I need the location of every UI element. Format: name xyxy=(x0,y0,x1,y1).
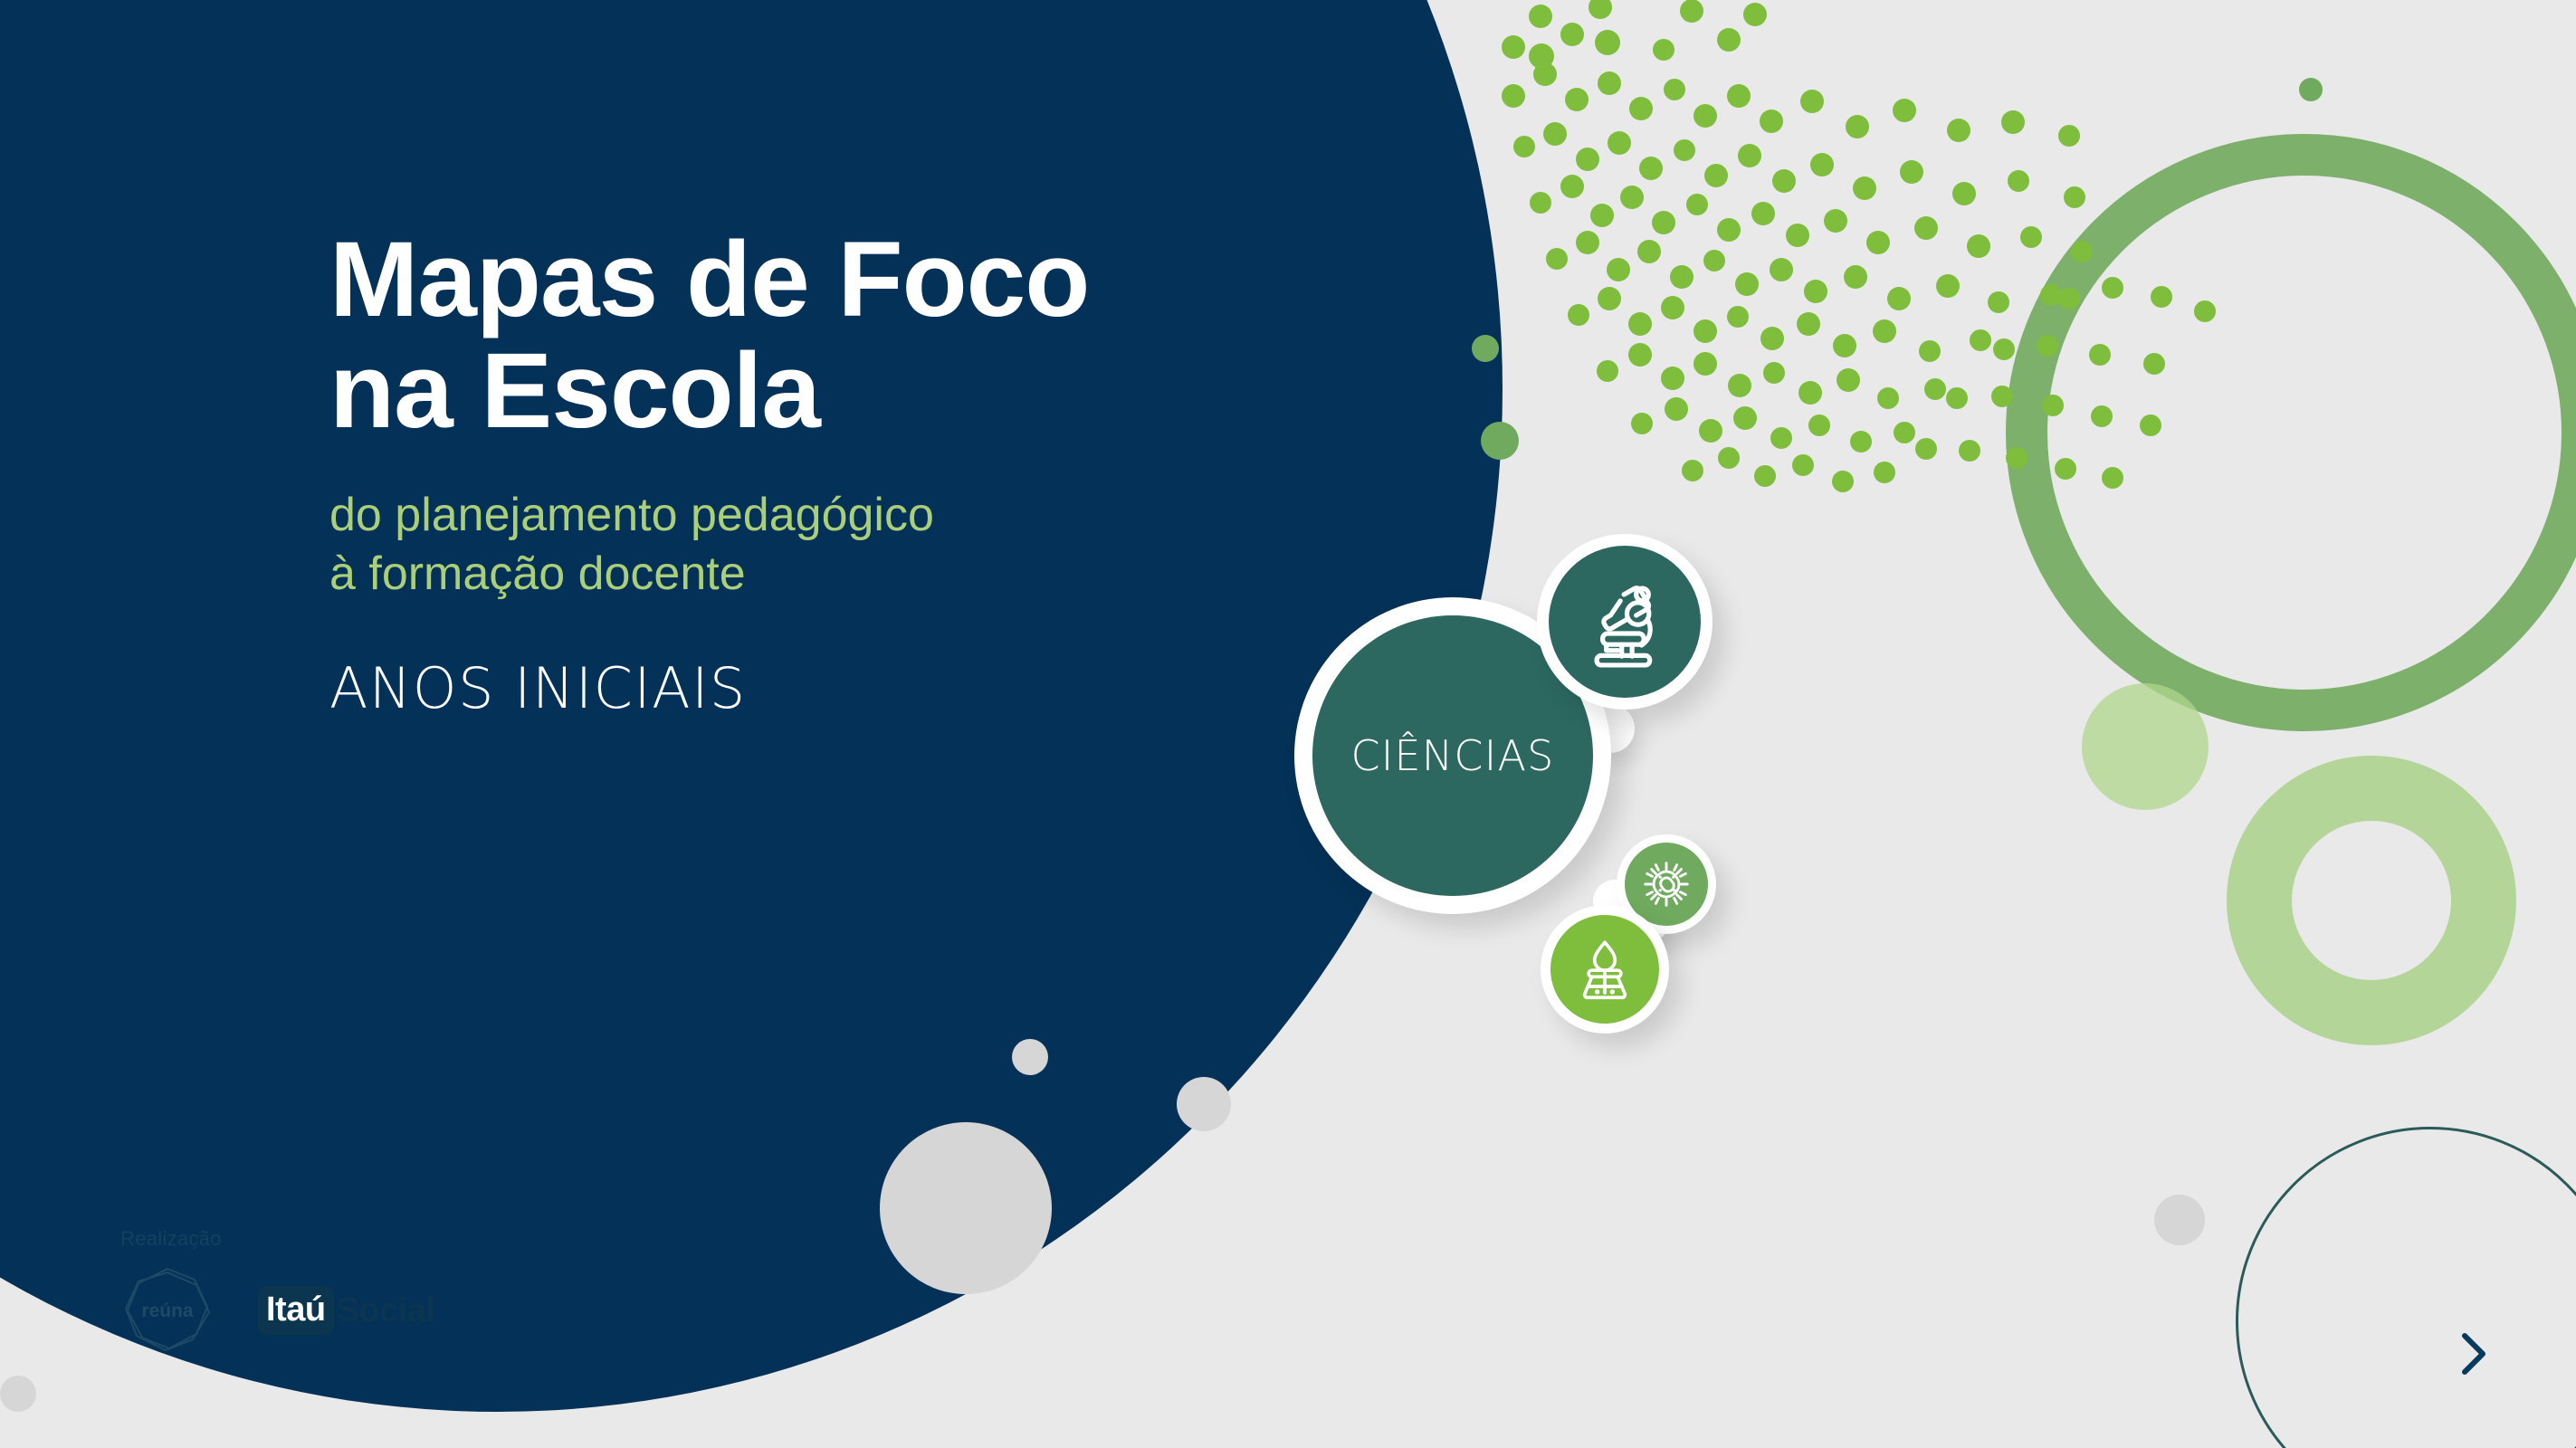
title-line-1: Mapas de Foco xyxy=(329,224,1343,336)
next-slide-button[interactable] xyxy=(2448,1329,2499,1379)
logo-row: reúna Itaú Social xyxy=(120,1263,435,1357)
decorative-grey-circle xyxy=(0,1376,36,1412)
page-subtitle: do planejamento pedagógico à formação do… xyxy=(329,486,1343,603)
icon-bubble-burner[interactable] xyxy=(1541,905,1669,1034)
itau-social-word: Social xyxy=(337,1293,435,1328)
decorative-teal-outline-circle xyxy=(2236,1127,2576,1448)
slide-root: Mapas de Foco na Escola do planejamento … xyxy=(0,0,2576,1448)
subtitle-line-2: à formação docente xyxy=(329,545,1343,603)
itau-box-text: Itaú xyxy=(258,1286,334,1335)
reuna-logo-mark: reúna xyxy=(120,1263,215,1357)
audience-label: ANOS INICIAIS xyxy=(329,655,1343,721)
footer-credits: Realização reúna Itaú Social xyxy=(120,1227,435,1357)
title-block: Mapas de Foco na Escola do planejamento … xyxy=(329,224,1343,721)
decorative-green-dot xyxy=(1481,422,1519,460)
decorative-grey-circle xyxy=(1177,1077,1231,1131)
icon-bubble-microscope[interactable] xyxy=(1537,534,1713,710)
chevron-right-icon xyxy=(2456,1329,2492,1379)
decorative-green-dot xyxy=(1472,335,1499,362)
title-line-2: na Escola xyxy=(329,336,1343,447)
decorative-grey-circle xyxy=(880,1122,1052,1294)
microscope-icon xyxy=(1578,575,1672,669)
icon-bubble-fill xyxy=(1550,915,1659,1024)
bacteria-icon xyxy=(1638,856,1694,912)
subject-bubble-cluster: CIÊNCIAS xyxy=(1294,543,2199,1294)
realizacao-label: Realização xyxy=(120,1227,435,1251)
decorative-grey-circle xyxy=(1012,1039,1048,1075)
itau-social-logo: Itaú Social xyxy=(258,1286,435,1335)
page-title: Mapas de Foco na Escola xyxy=(329,224,1343,446)
reuna-wordmark: reúna xyxy=(141,1300,194,1321)
reuna-logo: reúna xyxy=(120,1263,215,1357)
decorative-green-donut xyxy=(2227,756,2516,1045)
icon-bubble-fill xyxy=(1549,546,1701,698)
subtitle-line-1: do planejamento pedagógico xyxy=(329,486,1343,544)
subject-bubble-label: CIÊNCIAS xyxy=(1350,731,1554,780)
bunsen-burner-icon xyxy=(1570,935,1639,1004)
decorative-green-dot xyxy=(2299,78,2323,101)
